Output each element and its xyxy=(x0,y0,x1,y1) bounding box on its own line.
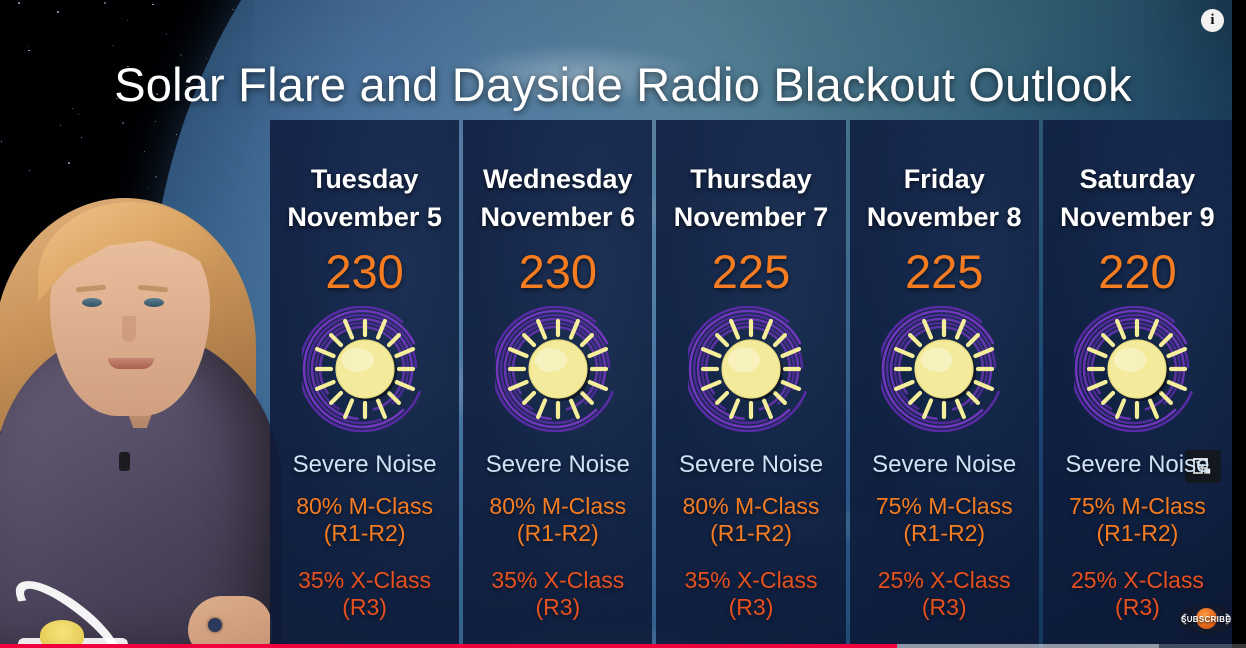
mclass-probability: 80% M-Class xyxy=(270,493,459,520)
xclass-probability: 35% X-Class xyxy=(656,567,845,594)
presenter-ring xyxy=(208,618,222,632)
mclass-scale-label: (R1-R2) xyxy=(1043,520,1232,547)
forecast-panel: SaturdayNovember 9220Severe Noise75% M-C… xyxy=(1043,120,1232,648)
noise-condition-label: Severe Noise xyxy=(850,450,1039,480)
radio-flux-value: 225 xyxy=(850,244,1039,300)
forecast-day-name: Friday xyxy=(850,160,1039,198)
forecast-icon-wrap xyxy=(656,306,845,436)
noise-condition-label: Severe Noise xyxy=(1043,450,1232,480)
forecast-panel: TuesdayNovember 5230Severe Noise80% M-Cl… xyxy=(270,120,459,648)
radio-flux-value: 230 xyxy=(270,244,459,300)
forecast-panel: FridayNovember 8225Severe Noise75% M-Cla… xyxy=(850,120,1039,648)
forecast-day-name: Saturday xyxy=(1043,160,1232,198)
forecast-day-name: Tuesday xyxy=(270,160,459,198)
xclass-probability: 25% X-Class xyxy=(850,567,1039,594)
forecast-date: November 7 xyxy=(656,198,845,236)
presenter-nose xyxy=(122,316,136,342)
mclass-probability: 80% M-Class xyxy=(656,493,845,520)
radio-flux-value: 230 xyxy=(463,244,652,300)
forecast-date: November 5 xyxy=(270,198,459,236)
xclass-probability: 25% X-Class xyxy=(1043,567,1232,594)
forecast-date: November 9 xyxy=(1043,198,1232,236)
forecast-icon-wrap xyxy=(270,306,459,436)
sun-with-radio-noise-icon xyxy=(495,306,621,432)
channel-logo xyxy=(0,598,156,648)
presenter-figure xyxy=(0,120,296,648)
radio-flux-value: 225 xyxy=(656,244,845,300)
xclass-probability: 35% X-Class xyxy=(270,567,459,594)
sun-with-radio-noise-icon xyxy=(1074,306,1200,432)
forecast-panel: WednesdayNovember 6230Severe Noise80% M-… xyxy=(463,120,652,648)
mclass-scale-label: (R1-R2) xyxy=(270,520,459,547)
video-progress-bar[interactable] xyxy=(0,644,1246,648)
forecast-date: November 8 xyxy=(850,198,1039,236)
mclass-probability: 75% M-Class xyxy=(1043,493,1232,520)
mclass-scale-label: (R1-R2) xyxy=(656,520,845,547)
forecast-date: November 6 xyxy=(463,198,652,236)
lapel-microphone xyxy=(119,452,130,471)
mclass-probability: 80% M-Class xyxy=(463,493,652,520)
forecast-panel: ThursdayNovember 7225Severe Noise80% M-C… xyxy=(656,120,845,648)
letterbox-right xyxy=(1232,0,1246,648)
subscribe-label: SUBSCRIBE xyxy=(1181,615,1231,624)
sun-with-radio-noise-icon xyxy=(881,306,1007,432)
xclass-probability: 35% X-Class xyxy=(463,567,652,594)
forecast-icon-wrap xyxy=(850,306,1039,436)
info-label: i xyxy=(1210,12,1214,29)
presenter-eye-right xyxy=(144,298,164,307)
radio-flux-value: 220 xyxy=(1043,244,1232,300)
sun-with-radio-noise-icon xyxy=(302,306,428,432)
noise-condition-label: Severe Noise xyxy=(656,450,845,480)
page-title: Solar Flare and Dayside Radio Blackout O… xyxy=(0,57,1246,112)
mclass-probability: 75% M-Class xyxy=(850,493,1039,520)
forecast-icon-wrap xyxy=(463,306,652,436)
presenter-eye-left xyxy=(82,298,102,307)
forecast-board: TuesdayNovember 5230Severe Noise80% M-Cl… xyxy=(270,120,1232,648)
xclass-scale-label: (R3) xyxy=(270,594,459,621)
noise-condition-label: Severe Noise xyxy=(463,450,652,480)
progress-played xyxy=(0,644,897,648)
xclass-scale-label: (R3) xyxy=(850,594,1039,621)
forecast-icon-wrap xyxy=(1043,306,1232,436)
forecast-day-name: Wednesday xyxy=(463,160,652,198)
xclass-scale-label: (R3) xyxy=(463,594,652,621)
presenter-hand xyxy=(188,596,272,648)
sun-with-radio-noise-icon xyxy=(688,306,814,432)
info-circle-icon[interactable]: i xyxy=(1201,9,1224,32)
mclass-scale-label: (R1-R2) xyxy=(850,520,1039,547)
mclass-scale-label: (R1-R2) xyxy=(463,520,652,547)
presenter-mouth xyxy=(108,358,154,369)
xclass-scale-label: (R3) xyxy=(656,594,845,621)
noise-condition-label: Severe Noise xyxy=(270,450,459,480)
video-player-stage: Solar Flare and Dayside Radio Blackout O… xyxy=(0,0,1246,648)
forecast-day-name: Thursday xyxy=(656,160,845,198)
